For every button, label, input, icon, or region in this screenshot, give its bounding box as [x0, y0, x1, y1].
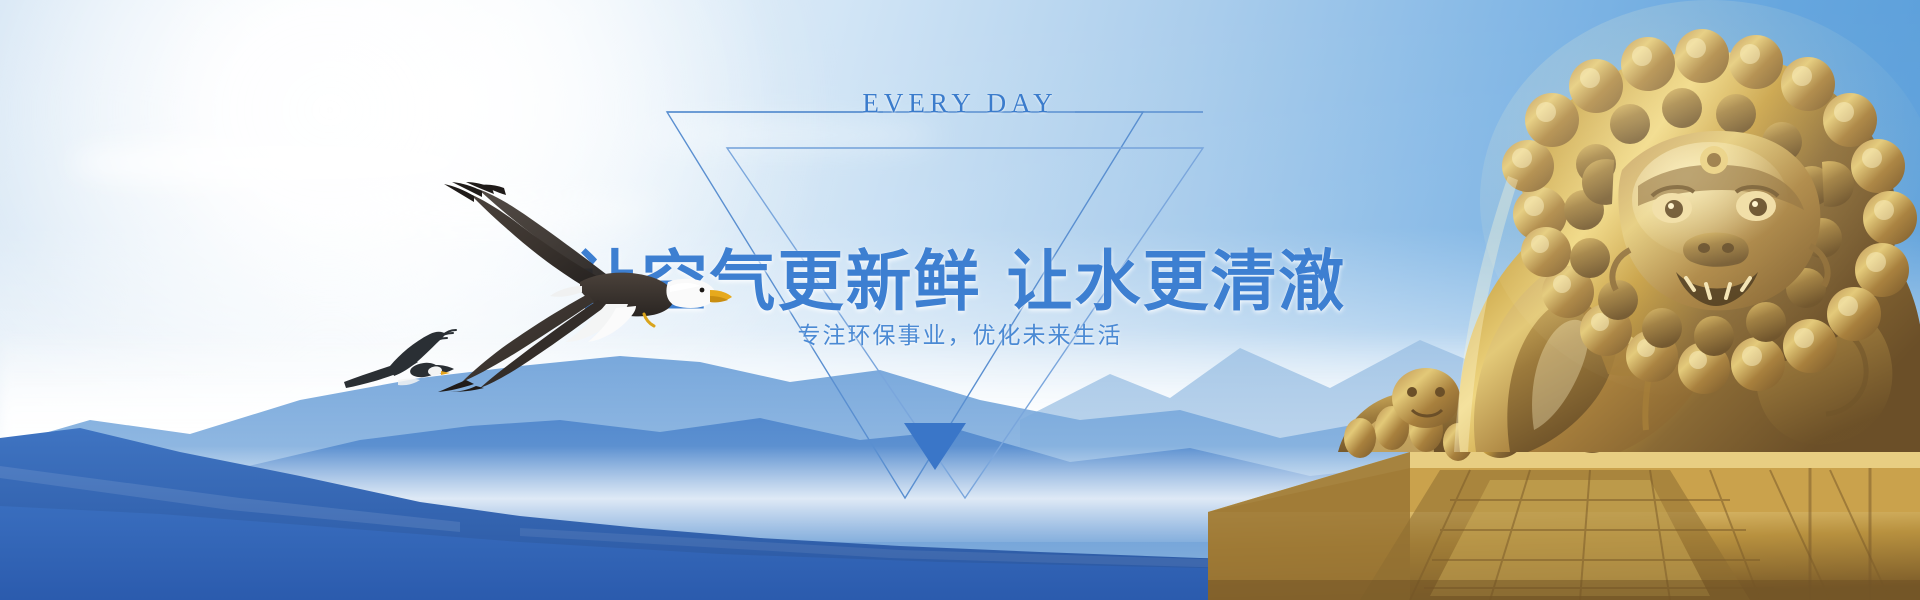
- accent-triangle-icon: [904, 423, 966, 470]
- banner-headline: 让空气更新鲜 让水更清澈: [0, 228, 1920, 324]
- banner-eyebrow: EVERY DAY: [0, 88, 1920, 119]
- cloud-wisp: [70, 140, 490, 186]
- banner-subline: 专注环保事业，优化未来生活: [0, 316, 1920, 350]
- hero-banner: EVERY DAY 让空气更新鲜 让水更清澈 专注环保事业，优化未来生活: [0, 0, 1920, 600]
- bald-eagle-large-icon: [430, 182, 750, 392]
